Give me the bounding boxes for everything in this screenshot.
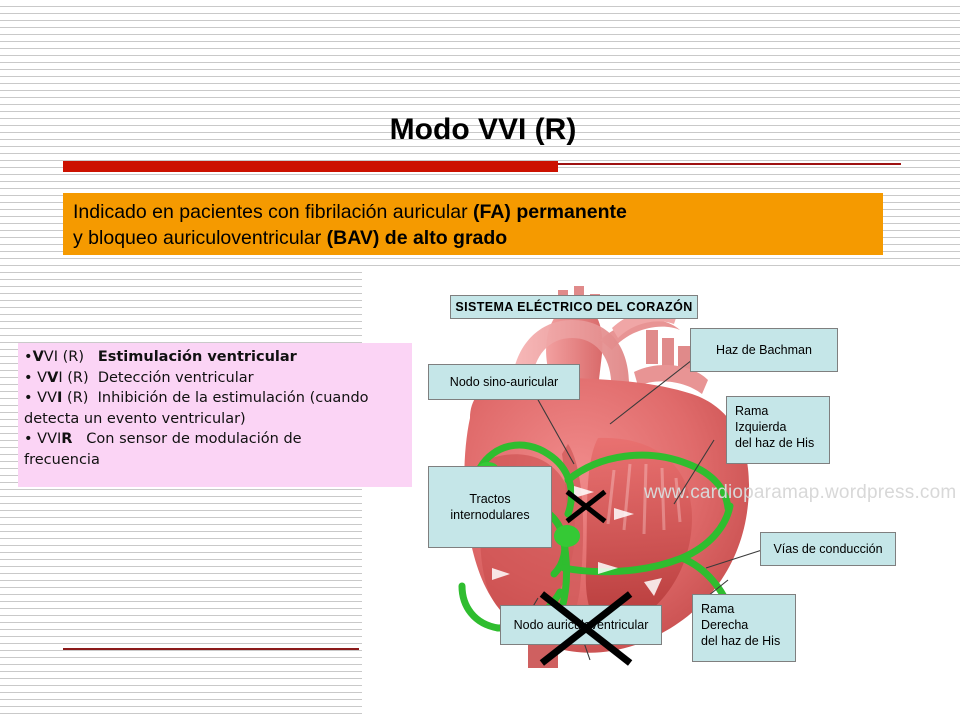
diagram-title: SISTEMA ELÉCTRICO DEL CORAZÓN bbox=[450, 295, 698, 319]
legend-code: I (R) bbox=[58, 370, 88, 386]
page-title: Modo VVI (R) bbox=[63, 113, 903, 147]
legend-code-bold: V bbox=[33, 349, 44, 365]
legend-code-bold: R bbox=[61, 431, 72, 447]
label-internodal-tracts: Tractos internodulares bbox=[428, 466, 552, 548]
label-internodal-line1: Tractos bbox=[469, 491, 510, 507]
legend-desc: Con sensor de modulación de bbox=[86, 431, 301, 447]
legend-code: (R) bbox=[62, 390, 88, 406]
banner-line1-text: Indicado en pacientes con fibrilación au… bbox=[73, 201, 473, 223]
label-internodal-line2: internodulares bbox=[450, 507, 529, 523]
label-left-bundle-branch: Rama Izquierda del haz de His bbox=[726, 396, 830, 464]
legend-code-bold: V bbox=[47, 370, 58, 386]
banner-line-2: y bloqueo auriculoventricular (BAV) de a… bbox=[73, 225, 873, 251]
legend-line-2: • VVI (R) Detección ventricular bbox=[24, 368, 406, 389]
watermark-text: www.cardioparamap.wordpress.com bbox=[644, 482, 956, 504]
legend-desc: Estimulación ventricular bbox=[98, 349, 297, 365]
footer-rule bbox=[63, 648, 359, 650]
legend-code: VV bbox=[37, 390, 57, 406]
legend-bullet: • bbox=[24, 370, 37, 386]
legend-line-4: detecta un evento ventricular) bbox=[24, 409, 406, 430]
legend-bullet: • bbox=[24, 390, 37, 406]
legend-bullet: • bbox=[24, 431, 37, 447]
legend-code: VI (R) bbox=[44, 349, 84, 365]
legend-line-3: • VVI (R) Inhibición de la estimulación … bbox=[24, 388, 406, 409]
heart-conduction-diagram: www.cardioparamap.wordpress.com SISTEMA … bbox=[362, 268, 960, 720]
cross-out-av-node-heart bbox=[562, 478, 610, 530]
legend-desc: Inhibición de la estimulación (cuando bbox=[98, 390, 369, 406]
cross-out-av-node-label bbox=[530, 588, 642, 662]
label-bachman-bundle: Haz de Bachman bbox=[690, 328, 838, 372]
legend-line-5: • VVIR Con sensor de modulación de bbox=[24, 429, 406, 450]
label-left-bundle-line3: del haz de His bbox=[735, 435, 829, 451]
vvi-mode-legend-box: •VVI (R) Estimulación ventricular • VVI … bbox=[18, 343, 412, 487]
indication-banner: Indicado en pacientes con fibrilación au… bbox=[63, 193, 883, 255]
legend-bullet: • bbox=[24, 349, 33, 365]
label-right-bundle-line1: Rama bbox=[701, 601, 795, 617]
label-conduction-pathways: Vías de conducción bbox=[760, 532, 896, 566]
legend-code: VVI bbox=[37, 431, 61, 447]
label-right-bundle-line2: Derecha bbox=[701, 617, 795, 633]
title-rule-thick bbox=[63, 161, 558, 172]
legend-line-6: frecuencia bbox=[24, 450, 406, 471]
label-left-bundle-line2: Izquierda bbox=[735, 419, 829, 435]
legend-desc: Detección ventricular bbox=[98, 370, 254, 386]
label-left-bundle-line1: Rama bbox=[735, 403, 829, 419]
banner-line2-text: y bloqueo auriculoventricular bbox=[73, 227, 327, 249]
banner-line2-bold: (BAV) de alto grado bbox=[327, 227, 508, 249]
banner-line-1: Indicado en pacientes con fibrilación au… bbox=[73, 199, 873, 225]
banner-line1-bold: (FA) permanente bbox=[473, 201, 627, 223]
legend-code: V bbox=[37, 370, 47, 386]
label-right-bundle-branch: Rama Derecha del haz de His bbox=[692, 594, 796, 662]
legend-line-1: •VVI (R) Estimulación ventricular bbox=[24, 347, 406, 368]
label-sinoatrial-node: Nodo sino-auricular bbox=[428, 364, 580, 400]
label-right-bundle-line3: del haz de His bbox=[701, 633, 795, 649]
